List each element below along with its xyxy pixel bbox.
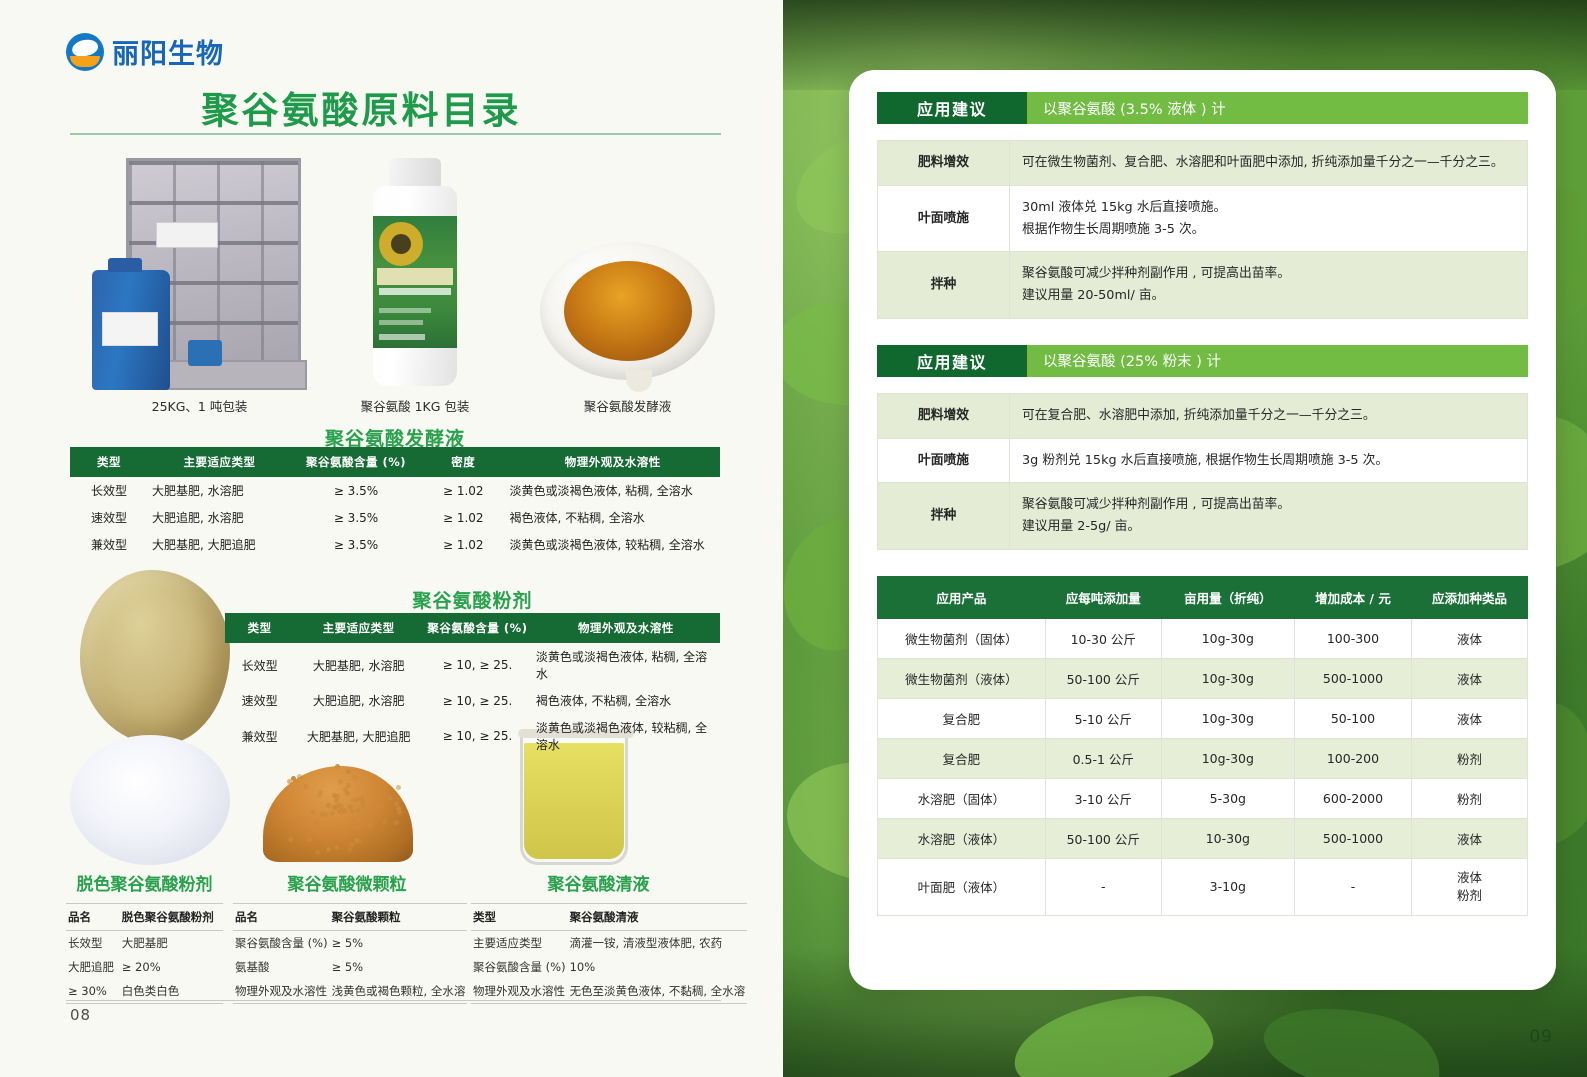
fermentation-table: 类型主要适应类型聚谷氨酸含量 (%)密度物理外观及水溶性 长效型大肥基肥, 水溶… bbox=[70, 447, 720, 558]
mini-title: 脱色聚谷氨酸粉剂 bbox=[66, 870, 223, 895]
clear-liquid-table: 类型聚谷氨酸清液主要适应类型滴灌一铵, 清液型液体肥, 农药聚谷氨酸含量 (%)… bbox=[471, 903, 747, 1004]
application-block-liquid: 应用建议 以聚谷氨酸 (3.5% 液体 ) 计 肥料增效可在微生物菌剂、复合肥、… bbox=[877, 92, 1528, 319]
granule-speck bbox=[310, 810, 315, 815]
table-cell: 液体 bbox=[1411, 698, 1527, 738]
table-cell: 3-10 公斤 bbox=[1045, 778, 1161, 818]
brand-name: 丽阳生物 bbox=[112, 32, 224, 71]
table-row: 微生物菌剂（液体）50-100 公斤10g-30g500-1000液体 bbox=[878, 658, 1528, 698]
table-cell: 微生物菌剂（液体） bbox=[878, 658, 1046, 698]
granule-speck bbox=[335, 764, 340, 769]
column-header: 应添加种类品 bbox=[1411, 576, 1527, 618]
photo-caption-tote: 25KG、1 吨包装 bbox=[92, 396, 307, 415]
table-row: 长效型大肥基肥, 水溶肥≥ 3.5%≥ 1.02淡黄色或淡褐色液体, 粘稠, 全… bbox=[70, 477, 720, 504]
table-cell: 聚谷氨酸含量 (%) bbox=[233, 931, 330, 956]
table-row: 微生物菌剂（固体）10-30 公斤10g-30g100-300液体 bbox=[878, 618, 1528, 658]
table-header-row: 品名聚谷氨酸颗粒 bbox=[233, 904, 467, 931]
bottle-photo bbox=[355, 158, 475, 390]
mini-title: 聚谷氨酸清液 bbox=[471, 870, 726, 895]
application-row-value: 聚谷氨酸可减少拌种剂副作用 , 可提高出苗率。建议用量 2-5g/ 亩。 bbox=[1010, 483, 1528, 550]
granule-speck bbox=[351, 798, 356, 803]
column-header: 聚谷氨酸颗粒 bbox=[330, 904, 468, 931]
powder-table: 类型主要适应类型聚谷氨酸含量 (%)物理外观及水溶性 长效型大肥基肥, 水溶肥≥… bbox=[225, 613, 720, 758]
table-row: 复合肥0.5-1 公斤10g-30g100-200粉剂 bbox=[878, 738, 1528, 778]
table-row: 大肥追肥≥ 20% bbox=[66, 955, 223, 979]
table-cell: 兼效型 bbox=[225, 714, 294, 758]
table-row: 兼效型大肥基肥, 大肥追肥≥ 3.5%≥ 1.02淡黄色或淡褐色液体, 较粘稠,… bbox=[70, 531, 720, 558]
application-row-value: 聚谷氨酸可减少拌种剂副作用 , 可提高出苗率。建议用量 20-50ml/ 亩。 bbox=[1010, 252, 1528, 319]
table-cell: 水溶肥（固体） bbox=[878, 778, 1046, 818]
table-cell: 600-2000 bbox=[1294, 778, 1411, 818]
column-header: 应每吨添加量 bbox=[1045, 576, 1161, 618]
table-row: 速效型大肥追肥, 水溶肥≥ 3.5%≥ 1.02褐色液体, 不粘稠, 全溶水 bbox=[70, 504, 720, 531]
left-page: 丽阳生物 聚谷氨酸原料目录 bbox=[0, 0, 783, 1077]
table-cell: 液体 bbox=[1411, 818, 1527, 858]
table-cell: 500-1000 bbox=[1294, 658, 1411, 698]
mini-spec-tables: 脱色聚谷氨酸粉剂 品名脱色聚谷氨酸粉剂长效型大肥基肥大肥追肥≥ 20%≥ 30%… bbox=[66, 870, 726, 1004]
table-cell: ≥ 10, ≥ 25. bbox=[423, 643, 532, 687]
footer-divider bbox=[66, 1000, 721, 1001]
application-row-key: 叶面喷施 bbox=[878, 438, 1010, 483]
decolorized-powder-table: 品名脱色聚谷氨酸粉剂长效型大肥基肥大肥追肥≥ 20%≥ 30%白色类白色 bbox=[66, 903, 223, 1004]
table-cell: 氨基酸 bbox=[233, 955, 330, 979]
application-block-powder: 应用建议 以聚谷氨酸 (25% 粉末 ) 计 肥料增效可在复合肥、水溶肥中添加,… bbox=[877, 345, 1528, 550]
table-cell: 复合肥 bbox=[878, 738, 1046, 778]
granule-speck bbox=[396, 785, 401, 790]
table-cell: 滴灌一铵, 清液型液体肥, 农药 bbox=[568, 931, 748, 956]
table-header-row: 类型主要适应类型聚谷氨酸含量 (%)密度物理外观及水溶性 bbox=[70, 447, 720, 477]
table-cell: 10g-30g bbox=[1161, 698, 1294, 738]
catalog-spread: 丽阳生物 聚谷氨酸原料目录 bbox=[0, 0, 1587, 1077]
column-header: 脱色聚谷氨酸粉剂 bbox=[120, 904, 223, 931]
table-cell: 粉剂 bbox=[1411, 778, 1527, 818]
column-header: 密度 bbox=[421, 447, 506, 477]
table-cell: 5-10 公斤 bbox=[1045, 698, 1161, 738]
application-row-key: 肥料增效 bbox=[878, 393, 1010, 438]
table-cell: 大肥基肥, 水溶肥 bbox=[148, 477, 291, 504]
column-header: 增加成本 / 元 bbox=[1294, 576, 1411, 618]
table-cell: 长效型 bbox=[70, 477, 148, 504]
granule-speck bbox=[348, 804, 353, 809]
table-cell: 水溶肥（液体） bbox=[878, 818, 1046, 858]
table-cell: ≥ 10, ≥ 25. bbox=[423, 714, 532, 758]
company-logo-icon bbox=[66, 33, 104, 71]
table-cell: ≥ 1.02 bbox=[421, 531, 506, 558]
table-row: 叶面喷施30ml 液体兑 15kg 水后直接喷施。根据作物生长周期喷施 3-5 … bbox=[878, 185, 1528, 252]
mini-title: 聚谷氨酸微颗粒 bbox=[233, 870, 461, 895]
table-cell: 50-100 公斤 bbox=[1045, 658, 1161, 698]
table-cell: ≥ 3.5% bbox=[291, 504, 421, 531]
mini-table-clearliquid: 聚谷氨酸清液 类型聚谷氨酸清液主要适应类型滴灌一铵, 清液型液体肥, 农药聚谷氨… bbox=[471, 870, 726, 1004]
table-row: 速效型大肥追肥, 水溶肥≥ 10, ≥ 25.褐色液体, 不粘稠, 全溶水 bbox=[225, 687, 720, 714]
granule-speck bbox=[382, 819, 387, 824]
table-row: 水溶肥（液体）50-100 公斤10-30g500-1000液体 bbox=[878, 818, 1528, 858]
column-header: 类型 bbox=[471, 904, 568, 931]
table-row: 拌种聚谷氨酸可减少拌种剂副作用 , 可提高出苗率。建议用量 20-50ml/ 亩… bbox=[878, 252, 1528, 319]
table-cell: 大肥基肥 bbox=[120, 931, 223, 956]
fermentation-table-wrap: 类型主要适应类型聚谷氨酸含量 (%)密度物理外观及水溶性 长效型大肥基肥, 水溶… bbox=[70, 447, 720, 558]
column-header: 类型 bbox=[70, 447, 148, 477]
table-cell: 液体粉剂 bbox=[1411, 858, 1527, 915]
table-cell: 微生物菌剂（固体） bbox=[878, 618, 1046, 658]
table-cell: 淡黄色或淡褐色液体, 粘稠, 全溶水 bbox=[532, 643, 720, 687]
table-cell: 10-30g bbox=[1161, 818, 1294, 858]
table-cell: 主要适应类型 bbox=[471, 931, 568, 956]
table-cell: 长效型 bbox=[66, 931, 120, 956]
granule-speck bbox=[359, 796, 364, 801]
table-row: 肥料增效可在复合肥、水溶肥中添加, 折纯添加量千分之一—千分之三。 bbox=[878, 393, 1528, 438]
table-cell: 10% bbox=[568, 955, 748, 979]
granule-speck bbox=[336, 803, 341, 808]
table-row: 氨基酸≥ 5% bbox=[233, 955, 467, 979]
table-row: 聚谷氨酸含量 (%)≥ 5% bbox=[233, 931, 467, 956]
column-header: 主要适应类型 bbox=[294, 613, 423, 643]
table-cell: 大肥追肥, 水溶肥 bbox=[148, 504, 291, 531]
table-cell: 褐色液体, 不粘稠, 全溶水 bbox=[506, 504, 721, 531]
page-number-left: 08 bbox=[70, 1006, 91, 1024]
column-header: 品名 bbox=[233, 904, 330, 931]
table-cell: 50-100 公斤 bbox=[1045, 818, 1161, 858]
table-cell: 5-30g bbox=[1161, 778, 1294, 818]
crude-powder-photo bbox=[80, 570, 230, 745]
column-header: 聚谷氨酸含量 (%) bbox=[291, 447, 421, 477]
granule-speck bbox=[334, 845, 339, 850]
application-row-key: 叶面喷施 bbox=[878, 185, 1010, 252]
granule-speck bbox=[288, 837, 293, 842]
column-header: 主要适应类型 bbox=[148, 447, 291, 477]
table-cell: ≥ 3.5% bbox=[291, 531, 421, 558]
column-header: 应用产品 bbox=[878, 576, 1046, 618]
table-cell: ≥ 5% bbox=[330, 931, 468, 956]
table-cell: ≥ 1.02 bbox=[421, 477, 506, 504]
mini-table-microgranule: 聚谷氨酸微颗粒 品名聚谷氨酸颗粒聚谷氨酸含量 (%)≥ 5%氨基酸≥ 5%物理外… bbox=[233, 870, 461, 1004]
table-row: 兼效型大肥基肥, 大肥追肥≥ 10, ≥ 25.淡黄色或淡褐色液体, 较粘稠, … bbox=[225, 714, 720, 758]
application-header: 应用建议 以聚谷氨酸 (25% 粉末 ) 计 bbox=[877, 345, 1528, 377]
table-cell: 500-1000 bbox=[1294, 818, 1411, 858]
table-cell: 复合肥 bbox=[878, 698, 1046, 738]
table-row: 肥料增效可在微生物菌剂、复合肥、水溶肥和叶面肥中添加, 折纯添加量千分之一—千分… bbox=[878, 141, 1528, 186]
table-cell: 大肥基肥, 水溶肥 bbox=[294, 643, 423, 687]
page-number-right: 09 bbox=[1529, 1027, 1553, 1047]
granule-photo bbox=[253, 740, 423, 862]
table-cell: 速效型 bbox=[70, 504, 148, 531]
section-title-powder: 聚谷氨酸粉剂 bbox=[225, 586, 720, 613]
granule-speck bbox=[361, 803, 366, 808]
mini-table-decolorized: 脱色聚谷氨酸粉剂 品名脱色聚谷氨酸粉剂长效型大肥基肥大肥追肥≥ 20%≥ 30%… bbox=[66, 870, 223, 1004]
microgranule-table: 品名聚谷氨酸颗粒聚谷氨酸含量 (%)≥ 5%氨基酸≥ 5%物理外观及水溶性浅黄色… bbox=[233, 903, 467, 1004]
application-basis: 以聚谷氨酸 (25% 粉末 ) 计 bbox=[1027, 345, 1528, 377]
table-row: 聚谷氨酸含量 (%)10% bbox=[471, 955, 747, 979]
table-cell: 100-200 bbox=[1294, 738, 1411, 778]
column-header: 物理外观及水溶性 bbox=[532, 613, 720, 643]
fermentation-liquid-photo bbox=[540, 242, 720, 382]
application-table-liquid: 肥料增效可在微生物菌剂、复合肥、水溶肥和叶面肥中添加, 折纯添加量千分之一—千分… bbox=[877, 140, 1528, 319]
application-row-value: 3g 粉剂兑 15kg 水后直接喷施, 根据作物生长周期喷施 3-5 次。 bbox=[1010, 438, 1528, 483]
column-header: 物理外观及水溶性 bbox=[506, 447, 721, 477]
title-divider bbox=[70, 133, 721, 135]
table-cell: 液体 bbox=[1411, 658, 1527, 698]
table-cell: ≥ 1.02 bbox=[421, 504, 506, 531]
table-cell: 100-300 bbox=[1294, 618, 1411, 658]
brand-logo: 丽阳生物 bbox=[66, 32, 224, 71]
page-title: 聚谷氨酸原料目录 bbox=[0, 80, 723, 134]
table-cell: 大肥追肥, 水溶肥 bbox=[294, 687, 423, 714]
granule-speck bbox=[326, 847, 331, 852]
table-cell: ≥ 5% bbox=[330, 955, 468, 979]
table-cell: 淡黄色或淡褐色液体, 粘稠, 全溶水 bbox=[506, 477, 721, 504]
dosage-table: 应用产品应每吨添加量亩用量（折纯）增加成本 / 元应添加种类品 微生物菌剂（固体… bbox=[877, 576, 1528, 916]
granule-speck bbox=[352, 775, 357, 780]
application-row-key: 肥料增效 bbox=[878, 141, 1010, 186]
application-label: 应用建议 bbox=[877, 92, 1027, 124]
table-cell: 10-30 公斤 bbox=[1045, 618, 1161, 658]
table-cell: 速效型 bbox=[225, 687, 294, 714]
column-header: 亩用量（折纯） bbox=[1161, 576, 1294, 618]
table-cell: ≥ 10, ≥ 25. bbox=[423, 687, 532, 714]
table-row: 水溶肥（固体）3-10 公斤5-30g600-2000粉剂 bbox=[878, 778, 1528, 818]
granule-speck bbox=[355, 825, 360, 830]
table-header-row: 应用产品应每吨添加量亩用量（折纯）增加成本 / 元应添加种类品 bbox=[878, 576, 1528, 618]
table-cell: 叶面肥（液体） bbox=[878, 858, 1046, 915]
table-row: 复合肥5-10 公斤10g-30g50-100液体 bbox=[878, 698, 1528, 738]
table-cell: 聚谷氨酸含量 (%) bbox=[471, 955, 568, 979]
granule-speck bbox=[326, 803, 331, 808]
table-cell: 10g-30g bbox=[1161, 618, 1294, 658]
powder-table-wrap: 类型主要适应类型聚谷氨酸含量 (%)物理外观及水溶性 长效型大肥基肥, 水溶肥≥… bbox=[225, 613, 720, 758]
table-cell: 淡黄色或淡褐色液体, 较粘稠, 全溶水 bbox=[506, 531, 721, 558]
table-cell: - bbox=[1045, 858, 1161, 915]
column-header: 聚谷氨酸含量 (%) bbox=[423, 613, 532, 643]
table-cell: 淡黄色或淡褐色液体, 较粘稠, 全溶水 bbox=[532, 714, 720, 758]
table-cell: 大肥基肥, 大肥追肥 bbox=[294, 714, 423, 758]
application-row-value: 可在复合肥、水溶肥中添加, 折纯添加量千分之一—千分之三。 bbox=[1010, 393, 1528, 438]
table-row: 主要适应类型滴灌一铵, 清液型液体肥, 农药 bbox=[471, 931, 747, 956]
granule-speck bbox=[297, 774, 302, 779]
right-page: 应用建议 以聚谷氨酸 (3.5% 液体 ) 计 肥料增效可在微生物菌剂、复合肥、… bbox=[783, 0, 1587, 1077]
table-cell: 50-100 bbox=[1294, 698, 1411, 738]
table-cell: ≥ 20% bbox=[120, 955, 223, 979]
content-card: 应用建议 以聚谷氨酸 (3.5% 液体 ) 计 肥料增效可在微生物菌剂、复合肥、… bbox=[849, 70, 1556, 990]
application-row-value: 可在微生物菌剂、复合肥、水溶肥和叶面肥中添加, 折纯添加量千分之一—千分之三。 bbox=[1010, 141, 1528, 186]
photo-caption-liquid: 聚谷氨酸发酵液 bbox=[535, 396, 720, 415]
application-row-value: 30ml 液体兑 15kg 水后直接喷施。根据作物生长周期喷施 3-5 次。 bbox=[1010, 185, 1528, 252]
table-row: 叶面喷施3g 粉剂兑 15kg 水后直接喷施, 根据作物生长周期喷施 3-5 次… bbox=[878, 438, 1528, 483]
table-header-row: 类型主要适应类型聚谷氨酸含量 (%)物理外观及水溶性 bbox=[225, 613, 720, 643]
application-header: 应用建议 以聚谷氨酸 (3.5% 液体 ) 计 bbox=[877, 92, 1528, 124]
application-table-powder: 肥料增效可在复合肥、水溶肥中添加, 折纯添加量千分之一—千分之三。叶面喷施3g … bbox=[877, 393, 1528, 550]
table-cell: 粉剂 bbox=[1411, 738, 1527, 778]
table-cell: 长效型 bbox=[225, 643, 294, 687]
product-photo-row: 25KG、1 吨包装 聚谷氨酸 1KG 包装 聚谷氨酸发酵液 bbox=[70, 150, 720, 415]
application-label: 应用建议 bbox=[877, 345, 1027, 377]
ibc-tote-photo bbox=[92, 150, 307, 390]
table-row: 拌种聚谷氨酸可减少拌种剂副作用 , 可提高出苗率。建议用量 2-5g/ 亩。 bbox=[878, 483, 1528, 550]
application-basis: 以聚谷氨酸 (3.5% 液体 ) 计 bbox=[1027, 92, 1528, 124]
white-powder-photo bbox=[70, 735, 230, 865]
granule-speck bbox=[394, 801, 399, 806]
photo-caption-bottle: 聚谷氨酸 1KG 包装 bbox=[325, 396, 505, 415]
granule-speck bbox=[286, 814, 291, 819]
granule-speck bbox=[394, 820, 399, 825]
table-cell: 大肥基肥, 大肥追肥 bbox=[148, 531, 291, 558]
table-row: 长效型大肥基肥, 水溶肥≥ 10, ≥ 25.淡黄色或淡褐色液体, 粘稠, 全溶… bbox=[225, 643, 720, 687]
column-header: 类型 bbox=[225, 613, 294, 643]
column-header: 品名 bbox=[66, 904, 120, 931]
table-cell: 10g-30g bbox=[1161, 738, 1294, 778]
table-cell: 3-10g bbox=[1161, 858, 1294, 915]
table-cell: 0.5-1 公斤 bbox=[1045, 738, 1161, 778]
table-cell: 大肥追肥 bbox=[66, 955, 120, 979]
table-cell: 10g-30g bbox=[1161, 658, 1294, 698]
granule-speck bbox=[314, 821, 319, 826]
table-row: 长效型大肥基肥 bbox=[66, 931, 223, 956]
table-cell: - bbox=[1294, 858, 1411, 915]
table-header-row: 类型聚谷氨酸清液 bbox=[471, 904, 747, 931]
table-cell: 褐色液体, 不粘稠, 全溶水 bbox=[532, 687, 720, 714]
table-cell: ≥ 3.5% bbox=[291, 477, 421, 504]
granule-speck bbox=[356, 808, 361, 813]
application-row-key: 拌种 bbox=[878, 483, 1010, 550]
table-cell: 液体 bbox=[1411, 618, 1527, 658]
table-row: 叶面肥（液体）-3-10g-液体粉剂 bbox=[878, 858, 1528, 915]
application-row-key: 拌种 bbox=[878, 252, 1010, 319]
table-header-row: 品名脱色聚谷氨酸粉剂 bbox=[66, 904, 223, 931]
table-cell: 兼效型 bbox=[70, 531, 148, 558]
granule-speck bbox=[303, 784, 308, 789]
column-header: 聚谷氨酸清液 bbox=[568, 904, 748, 931]
